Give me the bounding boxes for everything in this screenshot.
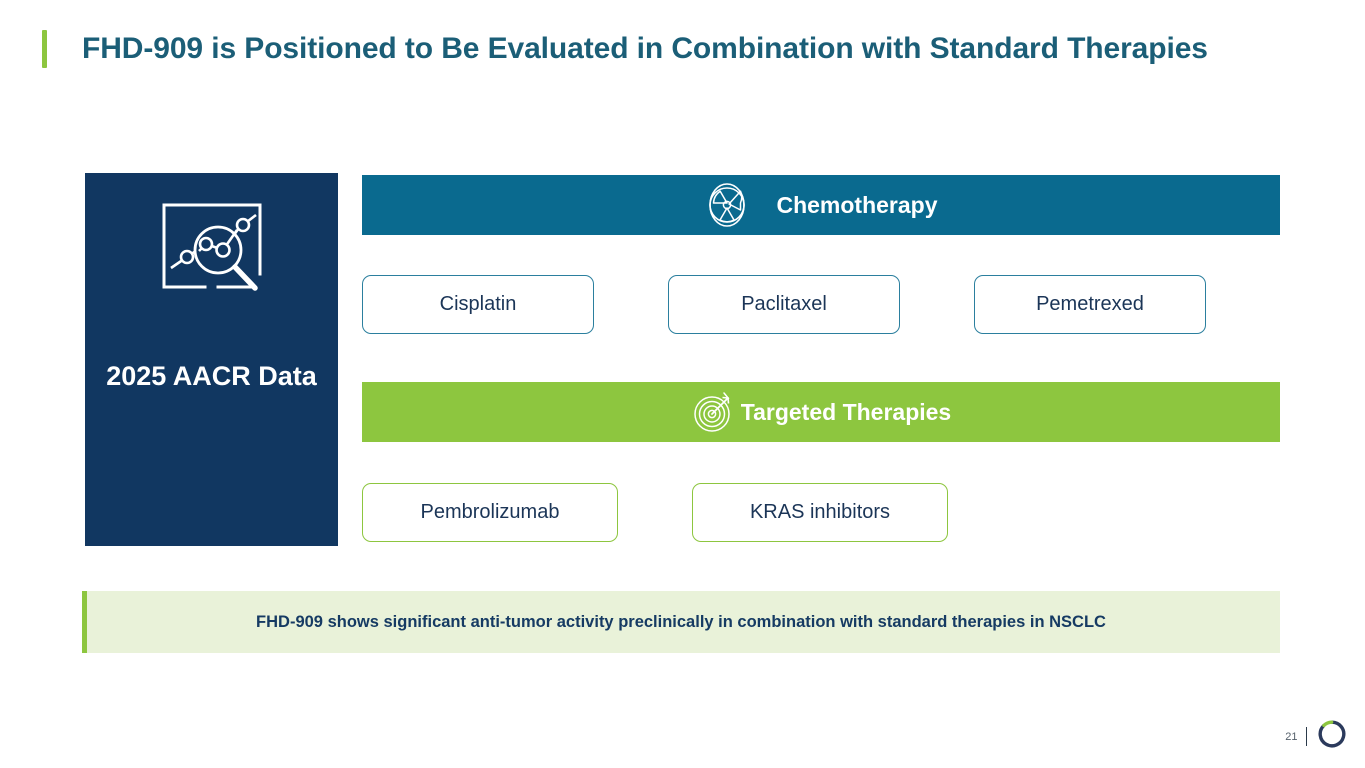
category-header-targeted-therapies: Targeted Therapies [362, 382, 1280, 442]
callout-text: FHD-909 shows significant anti-tumor act… [87, 613, 1280, 632]
drug-row-targeted-therapies: Pembrolizumab KRAS inhibitors [362, 483, 1280, 542]
drug-pill-paclitaxel[interactable]: Paclitaxel [668, 275, 900, 334]
page-number: 21 [1285, 731, 1297, 743]
drug-pill-pembrolizumab[interactable]: Pembrolizumab [362, 483, 618, 542]
therapy-groups: Chemotherapy Cisplatin Paclitaxel Pemetr… [362, 173, 1280, 546]
aacr-panel-label: 2025 AACR Data [106, 359, 317, 395]
data-analysis-magnifier-icon [159, 202, 265, 307]
category-title: Targeted Therapies [741, 399, 951, 426]
slide-title-block: FHD-909 is Positioned to Be Evaluated in… [42, 30, 1222, 68]
drug-pill-kras-inhibitors[interactable]: KRAS inhibitors [692, 483, 948, 542]
drug-pill-pemetrexed[interactable]: Pemetrexed [974, 275, 1206, 334]
main-content: 2025 AACR Data Chemotherapy Cisplatin [85, 173, 1280, 548]
category-header-chemotherapy: Chemotherapy [362, 175, 1280, 235]
drug-pill-cisplatin[interactable]: Cisplatin [362, 275, 594, 334]
footer-divider [1306, 727, 1308, 746]
key-takeaway-callout: FHD-909 shows significant anti-tumor act… [82, 591, 1280, 653]
category-title: Chemotherapy [776, 192, 937, 219]
target-dart-icon [691, 389, 737, 435]
ring-logo-icon [1317, 719, 1347, 754]
aacr-data-panel: 2025 AACR Data [85, 173, 338, 546]
page-title: FHD-909 is Positioned to Be Evaluated in… [82, 30, 1208, 68]
radiation-symbol-icon [704, 182, 750, 228]
drug-row-chemotherapy: Cisplatin Paclitaxel Pemetrexed [362, 275, 1280, 334]
title-accent-bar [42, 30, 47, 68]
slide-footer: 21 [1285, 719, 1347, 754]
